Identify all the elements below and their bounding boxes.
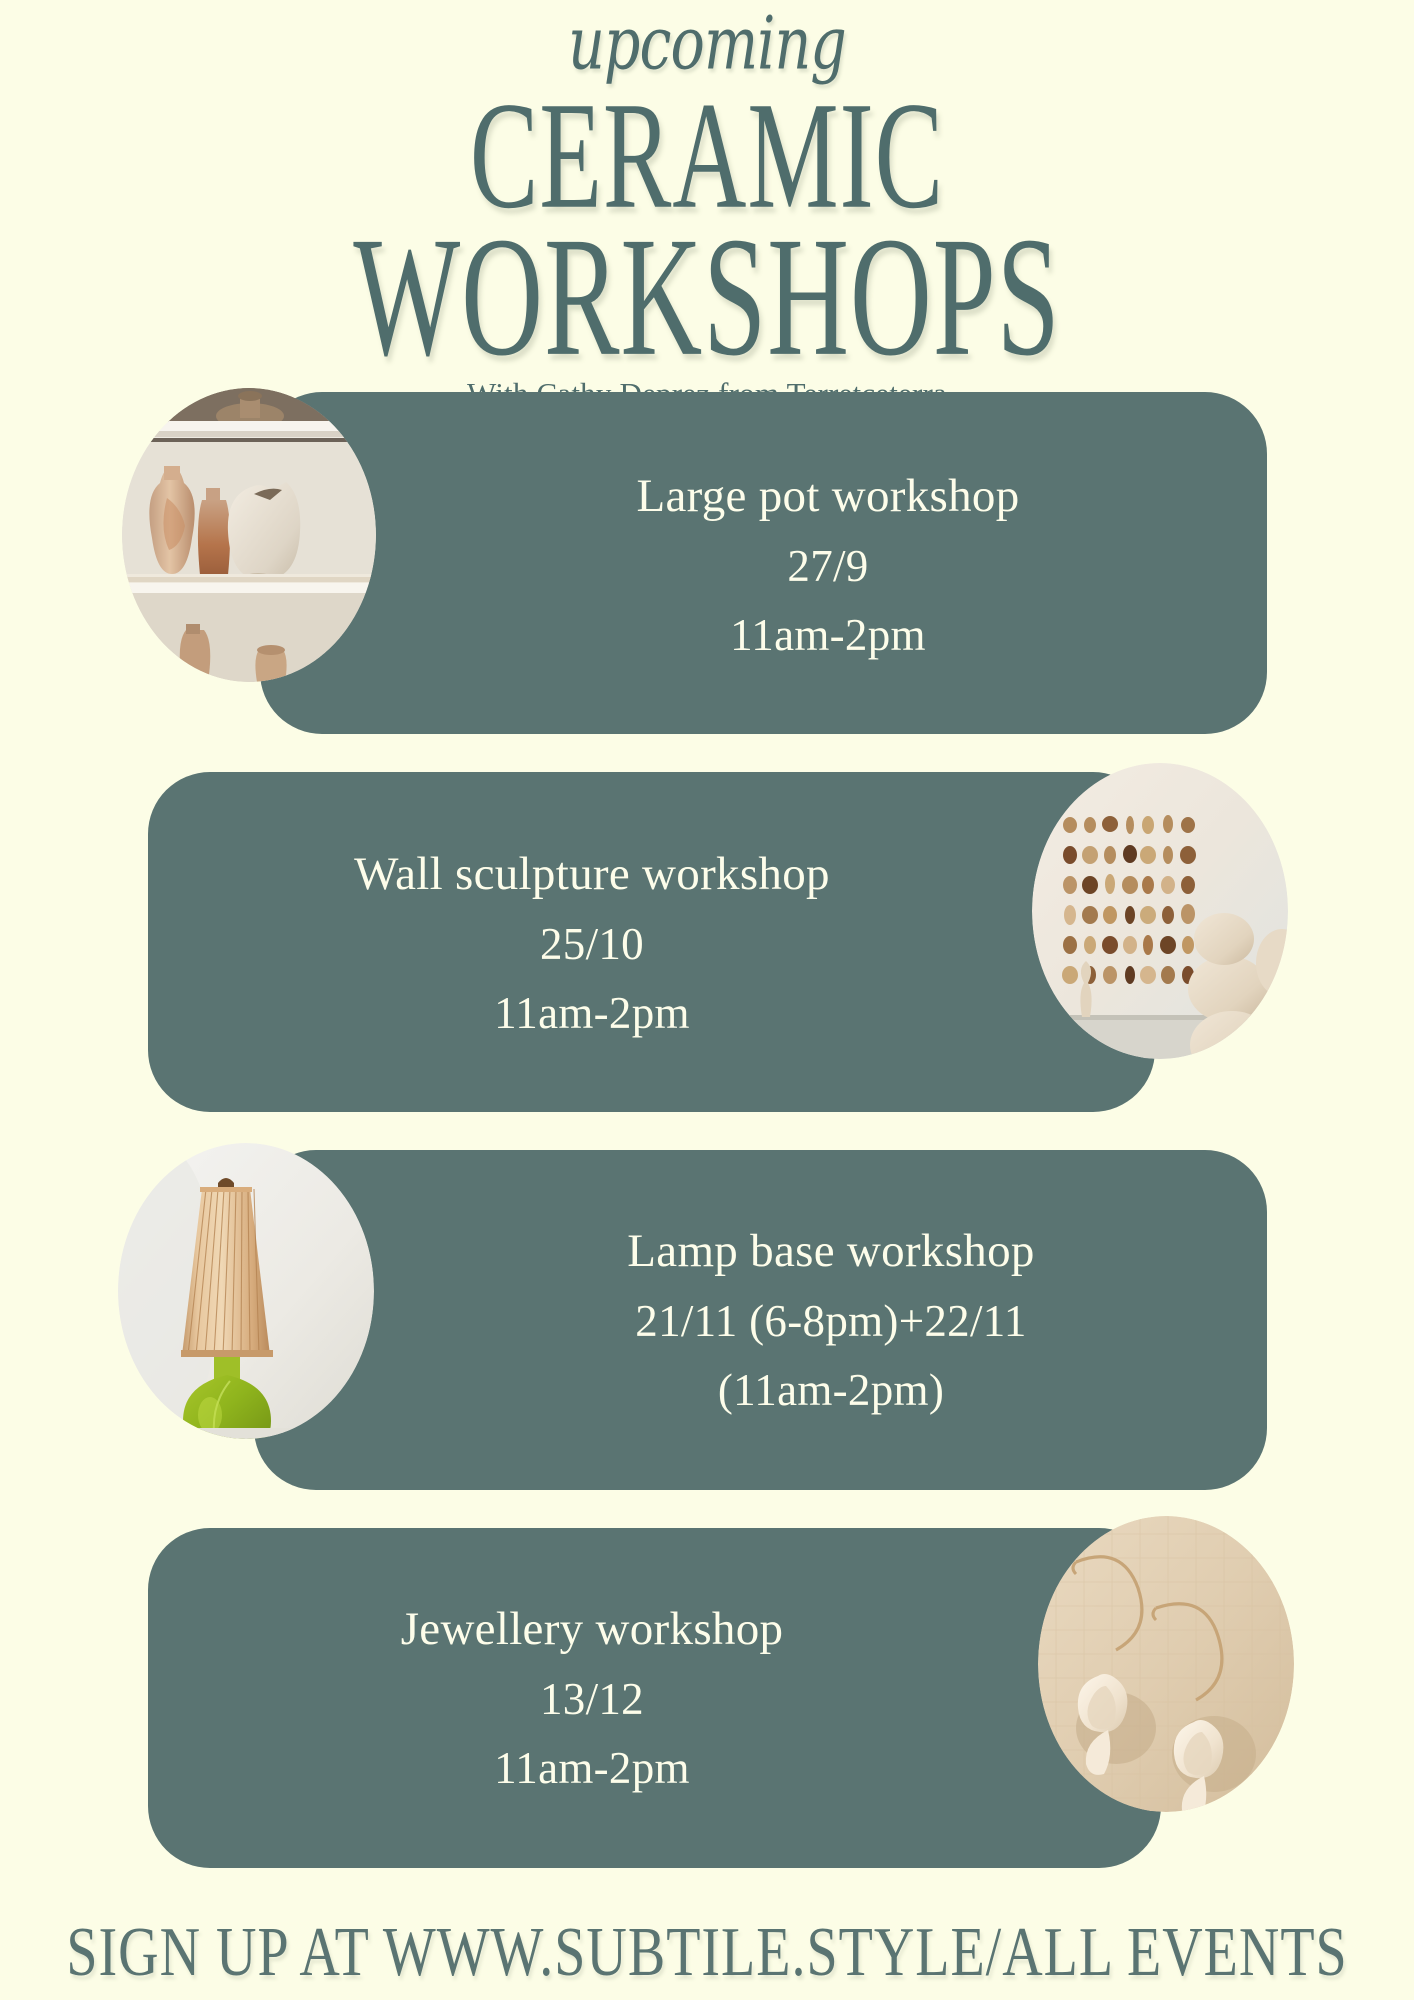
- workshop-time: 11am-2pm: [494, 1734, 690, 1802]
- workshop-time: (11am-2pm): [718, 1356, 944, 1424]
- workshop-image-lamp-base: [118, 1143, 374, 1439]
- workshop-image-jewellery: [1038, 1516, 1294, 1812]
- workshop-date: 13/12: [540, 1665, 644, 1733]
- workshop-time: 11am-2pm: [494, 979, 690, 1047]
- eyebrow-upcoming: upcoming: [57, 0, 1358, 80]
- workshop-text-large-pot: Large pot workshop 27/9 11am-2pm: [398, 400, 1258, 730]
- page-title-line-2: WORKSHOPS: [28, 219, 1385, 376]
- workshop-image-wall-sculpture: [1032, 763, 1288, 1059]
- workshop-text-wall-sculpture: Wall sculpture workshop 25/10 11am-2pm: [162, 780, 1022, 1106]
- workshop-text-jewellery: Jewellery workshop 13/12 11am-2pm: [160, 1534, 1024, 1862]
- workshop-title: Large pot workshop: [636, 461, 1019, 532]
- poster-root: upcoming CERAMIC WORKSHOPS With Cathy De…: [0, 0, 1414, 2000]
- workshop-date: 27/9: [787, 532, 868, 600]
- workshop-image-large-pot: [122, 388, 376, 682]
- poster-header: upcoming CERAMIC WORKSHOPS With Cathy De…: [0, 0, 1414, 412]
- workshop-title: Lamp base workshop: [627, 1216, 1034, 1287]
- workshop-title: Wall sculpture workshop: [354, 839, 830, 910]
- footer-signup-text[interactable]: SIGN UP AT WWW.SUBTILE.STYLE/ALL EVENTS: [66, 1913, 1347, 2000]
- workshop-time: 11am-2pm: [730, 601, 926, 669]
- workshop-date: 21/11 (6-8pm)+22/11: [635, 1287, 1026, 1355]
- footer-signup: SIGN UP AT WWW.SUBTILE.STYLE/ALL EVENTS: [0, 1930, 1414, 2000]
- workshop-text-lamp-base: Lamp base workshop 21/11 (6-8pm)+22/11 (…: [400, 1156, 1262, 1484]
- workshop-title: Jewellery workshop: [401, 1594, 784, 1665]
- workshop-date: 25/10: [540, 910, 644, 978]
